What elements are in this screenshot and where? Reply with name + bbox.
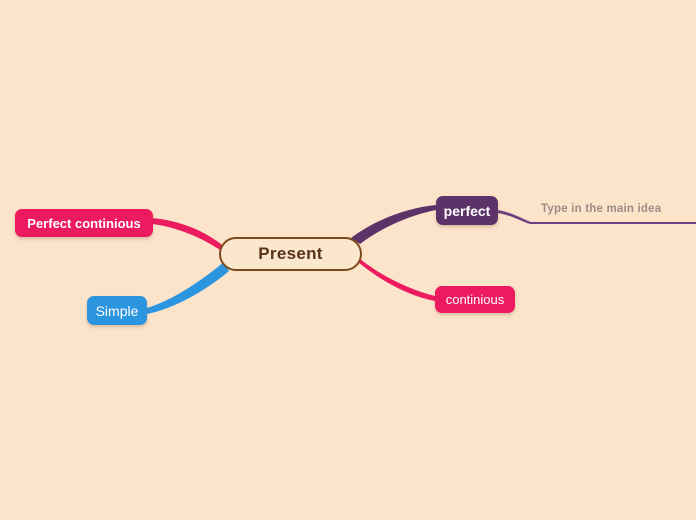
connector-perfect-continious — [152, 218, 223, 252]
connector-continious — [354, 254, 435, 301]
branch-node-label: continious — [446, 292, 505, 307]
branch-node-label: Perfect continious — [27, 216, 140, 231]
central-node-label: Present — [258, 244, 322, 264]
branch-node-simple[interactable]: Simple — [87, 296, 147, 325]
connector-simple — [147, 262, 229, 314]
central-node-present[interactable]: Present — [219, 237, 362, 271]
main-idea-placeholder-text[interactable]: Type in the main idea — [541, 203, 661, 215]
branch-node-label: perfect — [444, 203, 491, 219]
branch-node-perfect-continious[interactable]: Perfect continious — [15, 209, 153, 237]
branch-node-perfect[interactable]: perfect — [436, 196, 498, 225]
connector-perfect — [351, 205, 436, 244]
branch-node-label: Simple — [96, 303, 139, 319]
mindmap-canvas: Present Perfect continious Simple perfec… — [0, 0, 696, 520]
branch-node-continious[interactable]: continious — [435, 286, 515, 313]
